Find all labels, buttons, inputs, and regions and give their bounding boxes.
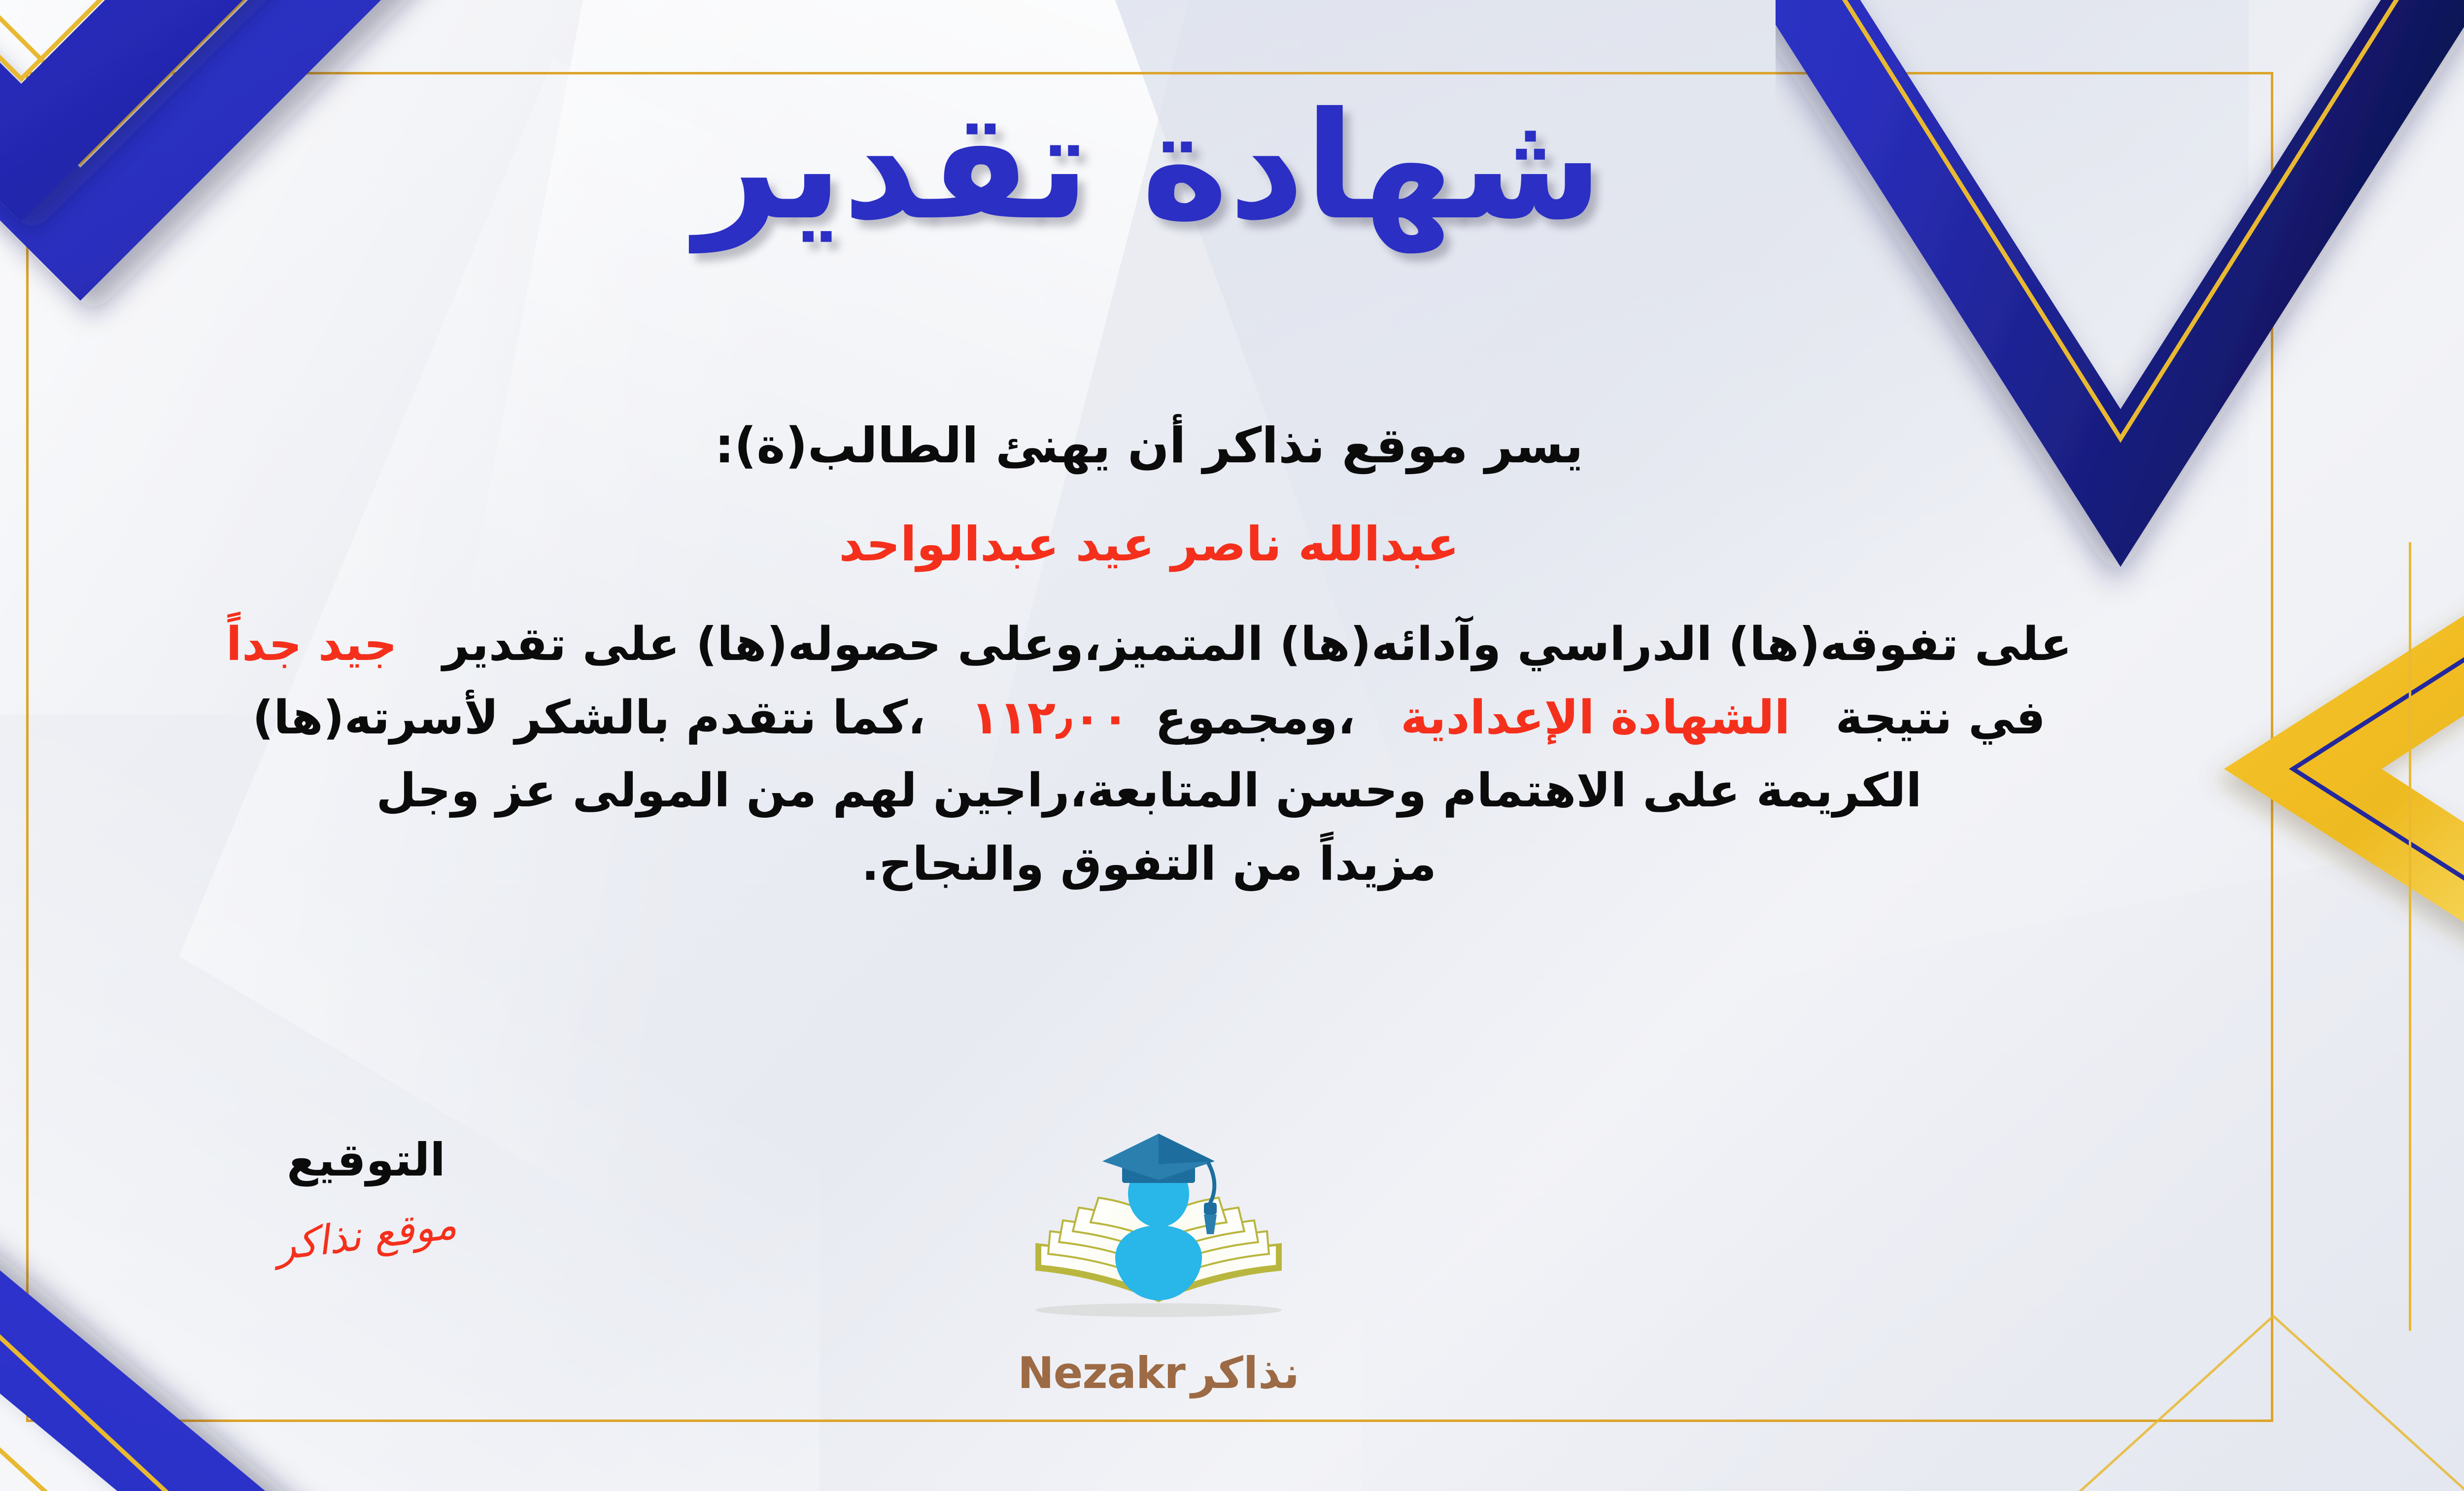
paragraph-line-1: على تفوقه(ها) الدراسي وآدائه(ها) المتميز… [0,608,2301,682]
gold-accent-rule-right [2409,542,2411,1331]
achievement-paragraph: على تفوقه(ها) الدراسي وآدائه(ها) المتميز… [0,608,2301,901]
page-title: شهادة تقدير [0,84,2464,249]
logo-arabic-text: نذاكر [1191,1348,1300,1398]
chevron-bottom-right-icon [2052,1232,2464,1491]
nezakr-logo: نذاكرNezakr [976,1129,1341,1405]
student-name: عبدالله ناصر عيد عبدالواحد [0,509,2301,581]
achievement-text-1: على تفوقه(ها) الدراسي وآدائه(ها) المتميز… [443,618,2072,671]
thanks-text: ،كما نتقدم بالشكر لأسرته(ها) [252,691,925,745]
grade-value: جيد جداً [226,618,397,671]
logo-wordmark: نذاكرNezakr [976,1348,1341,1398]
logo-latin-text: Nezakr [1018,1348,1185,1398]
paragraph-line-4: مزيداً من التفوق والنجاح. [0,828,2301,902]
certificate-canvas: شهادة تقدير يسر موقع نذاكر أن يهنئ الطال… [0,0,2464,1491]
exam-result-prefix: في نتيجة [1836,691,2046,745]
intro-line: يسر موقع نذاكر أن يهنئ الطالب(ة): [0,409,2301,483]
graduate-book-logo-icon [976,1129,1341,1351]
total-score: ١١٢٫٠٠ [971,691,1129,745]
background-facet [1362,838,2464,1491]
frame-border-top [26,72,2273,74]
certificate-body: يسر موقع نذاكر أن يهنئ الطالب(ة): عبدالل… [0,409,2301,901]
paragraph-line-3: الكريمة على الاهتمام وحسن المتابعة،راجين… [0,755,2301,828]
frame-border-bottom [26,1420,2273,1422]
total-label: ،ومجموع [1155,691,1355,745]
signature-label: التوقيع [208,1134,524,1186]
signature-handwritten: موقع نذاكر [207,1193,526,1278]
exam-name: الشهادة الإعدادية [1401,691,1790,745]
signature-block: التوقيع موقع نذاكر [208,1134,524,1259]
paragraph-line-2: في نتيجةالشهادة الإعدادية،ومجموع١١٢٫٠٠،ك… [0,682,2301,755]
corner-ornament-bottom-right [2052,1232,2464,1491]
